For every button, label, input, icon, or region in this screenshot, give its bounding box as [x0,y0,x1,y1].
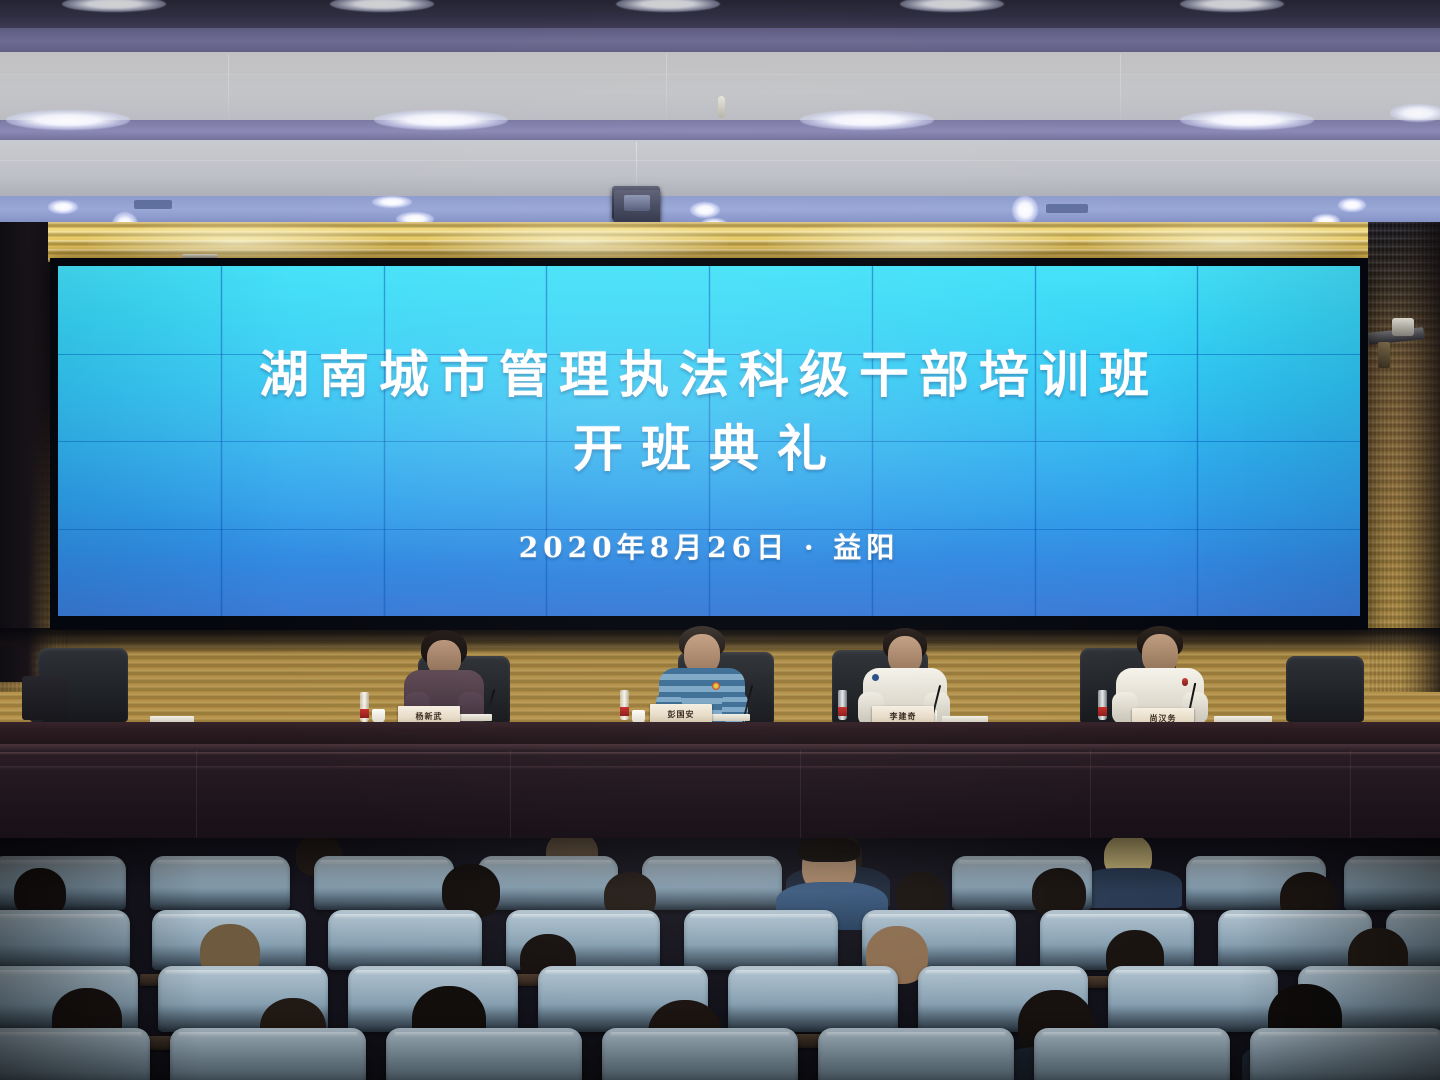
ceiling-projector-body [614,190,660,226]
nameplate-panelist-2: 彭国安 [650,704,712,724]
ceiling-downlight [1180,110,1314,130]
audience-seat [0,910,130,970]
water-bottle [620,690,629,720]
audience-hair [798,838,860,862]
led-video-wall: 湖南城市管理执法科级干部培训班 开班典礼 2020年8月26日 · 益阳 [50,258,1368,630]
stage-front-trim [0,766,1440,769]
wall-mounted-camera [1392,318,1414,336]
right-wall-shadow [1400,222,1440,692]
ceiling-spotlight [48,200,78,214]
ceiling-spotlight [690,202,720,218]
chair-right-edge [1286,656,1364,722]
stage-panel-seam [196,750,197,842]
ceiling-downlight [6,110,130,130]
audience-seat [1108,966,1278,1032]
ceiling-spotlight [372,196,412,208]
ceiling-hanger-wire [1120,54,1121,120]
stage-panel-seam [1350,750,1351,842]
stage-front-panel [0,750,1440,842]
stage-panel-seam [800,750,801,842]
stage-panel-seam [510,750,511,842]
microphone-head [1182,678,1188,686]
audience-seat [728,966,898,1032]
ceiling-accent-band-1 [0,28,1440,54]
party-emblem-badge [712,682,720,690]
audience-seat [818,1028,1014,1080]
ceiling-spotlight [1012,196,1038,224]
valance-light-hotspot [88,222,388,262]
ceiling-downlight [374,110,508,130]
ceiling-spotlight [1338,198,1366,212]
audience-seat [386,1028,582,1080]
ceiling-downlight [800,110,934,130]
ceiling-smoke-detector [718,96,725,118]
audience-seat [642,856,782,910]
left-dark-curtain [0,222,56,682]
audience-seat [684,910,838,970]
conference-hall-photo: 湖南城市管理执法科级干部培训班 开班典礼 2020年8月26日 · 益阳 杨新武 [0,0,1440,1080]
water-bottle [1098,690,1107,720]
led-screen-surface: 湖南城市管理执法科级干部培训班 开班典礼 2020年8月26日 · 益阳 [58,266,1360,616]
audience-seat [150,856,290,910]
valance-light-hotspot [1088,222,1368,262]
audience-seat [602,1028,798,1080]
tea-cup [372,709,385,723]
audience-area [0,838,1440,1080]
audience-seat [1344,856,1440,910]
audience-seat [314,856,454,910]
water-bottle [838,690,847,720]
audience-seat [1034,1028,1230,1080]
ceiling-vent [134,200,172,209]
stage-panel-seam [1090,750,1091,842]
bag-on-table [22,676,68,720]
ceiling-panel-2 [0,140,1440,198]
ceiling-seam [0,74,1440,75]
wall-bracket-post [1378,342,1390,368]
ceiling-downlight [1390,104,1440,122]
valance-light-hotspot [768,222,1068,262]
ceiling-hanger-wire [228,54,229,120]
audience-seat [328,910,482,970]
stage-front-trim [0,752,1440,755]
projector-hanger-wire [636,142,637,188]
ceiling-hanger-wire [666,54,667,118]
wall-valance-top [48,222,1368,262]
led-screen-vignette [58,266,1360,616]
lanyard-badge [872,674,879,681]
audience-seat [1250,1028,1440,1080]
audience-seat [170,1028,366,1080]
ceiling-vent [1046,204,1088,213]
ceiling-seam [0,160,1440,161]
valance-light-hotspot [428,222,728,262]
water-bottle [360,692,369,722]
audience-seat [0,1028,150,1080]
